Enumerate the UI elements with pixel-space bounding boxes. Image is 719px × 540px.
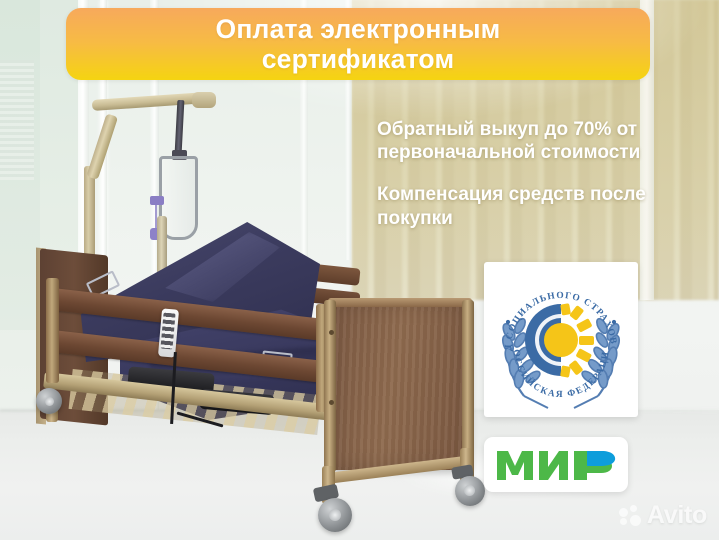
avito-watermark: Avito: [619, 501, 707, 530]
mir-logo-card: [484, 437, 628, 492]
mir-blue-swoosh: [587, 451, 615, 466]
avito-dot: [630, 505, 637, 512]
avito-dot: [620, 518, 627, 525]
footboard-post-left: [324, 300, 336, 472]
avito-logo-icon: [619, 505, 641, 527]
footboard-fastener: [329, 400, 334, 405]
fss-logo-card: ФОНД СОЦИАЛЬНОГО СТРАХОВАНИЯ РОССИЙСКАЯ …: [484, 262, 638, 417]
avito-wordmark: Avito: [647, 501, 707, 530]
promo-banner-line-1: Оплата электронным: [216, 14, 501, 44]
promo-bullet-item: Компенсация средств после покупки: [377, 183, 697, 229]
advertisement-image: Оплата электронным сертификатом Обратный…: [0, 0, 719, 540]
fss-logo-icon: ФОНД СОЦИАЛЬНОГО СТРАХОВАНИЯ РОССИЙСКАЯ …: [484, 262, 638, 417]
footboard-woodgrain: [330, 302, 470, 470]
caster-hub: [464, 485, 475, 496]
promo-bullet-list: Обратный выкуп до 70% от первоначальной …: [377, 118, 697, 230]
avito-dot: [619, 508, 628, 517]
footboard-fastener: [329, 330, 334, 335]
promo-banner-line-2: сертификатом: [262, 44, 455, 74]
promo-banner: Оплата электронным сертификатом: [66, 8, 650, 80]
wall-vent: [0, 60, 34, 180]
caster-hub: [45, 397, 54, 406]
handle-adjuster-upper: [150, 196, 164, 205]
side-rail-post-left: [46, 278, 59, 383]
promo-banner-title: Оплата электронным сертификатом: [206, 14, 511, 74]
mir-logo-icon: [495, 445, 617, 485]
promo-bullet-item: Обратный выкуп до 70% от первоначальной …: [377, 118, 697, 164]
caster-hub: [329, 509, 341, 521]
avito-dot: [630, 515, 641, 526]
footboard-top-edge: [328, 298, 472, 307]
lifting-pole-cap: [192, 92, 216, 108]
